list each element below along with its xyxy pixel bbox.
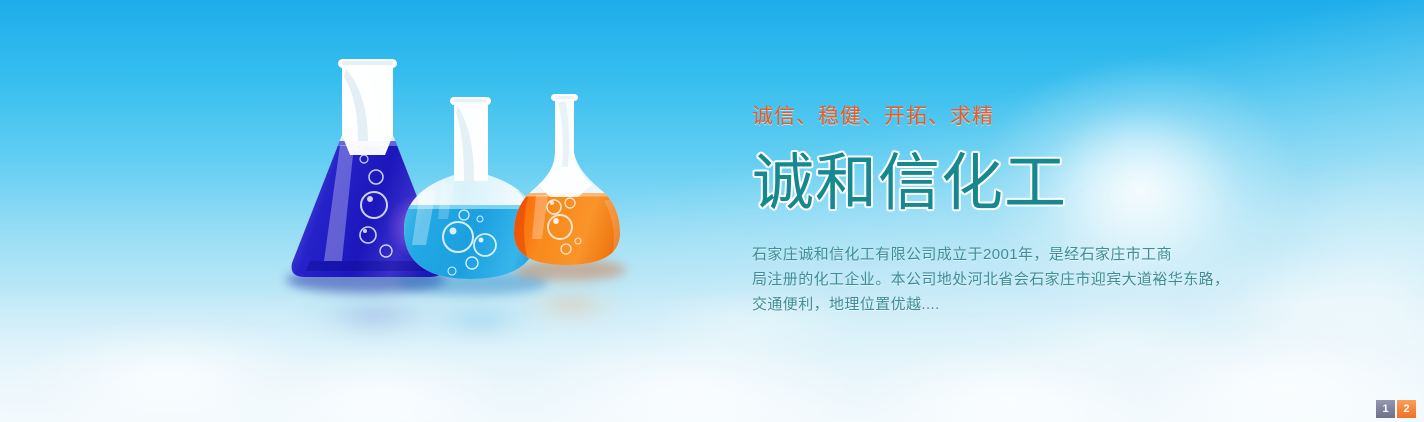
cloud xyxy=(860,345,1160,422)
description-line: 交通便利，地理位置优越.... xyxy=(752,292,1222,317)
hero-banner: 诚信、稳健、开拓、求精 诚和信化工 石家庄诚和信化工有限公司成立于2001年，是… xyxy=(0,0,1424,422)
banner-description: 石家庄诚和信化工有限公司成立于2001年，是经石家庄市工商 局注册的化工企业。本… xyxy=(752,242,1222,317)
slider-page-1[interactable]: 1 xyxy=(1376,400,1395,418)
slider-page-2[interactable]: 2 xyxy=(1397,400,1416,418)
cloud xyxy=(20,320,320,422)
flask-illustration xyxy=(280,55,630,345)
banner-tagline: 诚信、稳健、开拓、求精 xyxy=(752,104,1252,130)
volumetric-flask-icon xyxy=(508,93,630,277)
flask-reflection xyxy=(400,291,560,349)
flask-reflection xyxy=(290,287,460,345)
description-line: 局注册的化工企业。本公司地处河北省会石家庄市迎宾大道裕华东路， xyxy=(752,267,1222,292)
banner-title: 诚和信化工 xyxy=(752,148,1252,220)
cloud xyxy=(250,350,510,422)
slider-pagination[interactable]: 1 2 xyxy=(1376,400,1416,418)
banner-copy: 诚信、稳健、开拓、求精 诚和信化工 石家庄诚和信化工有限公司成立于2001年，是… xyxy=(752,104,1252,317)
description-line: 石家庄诚和信化工有限公司成立于2001年，是经石家庄市工商 xyxy=(752,242,1222,267)
flask-reflection xyxy=(512,281,632,329)
right-edge-glow xyxy=(1230,150,1424,422)
